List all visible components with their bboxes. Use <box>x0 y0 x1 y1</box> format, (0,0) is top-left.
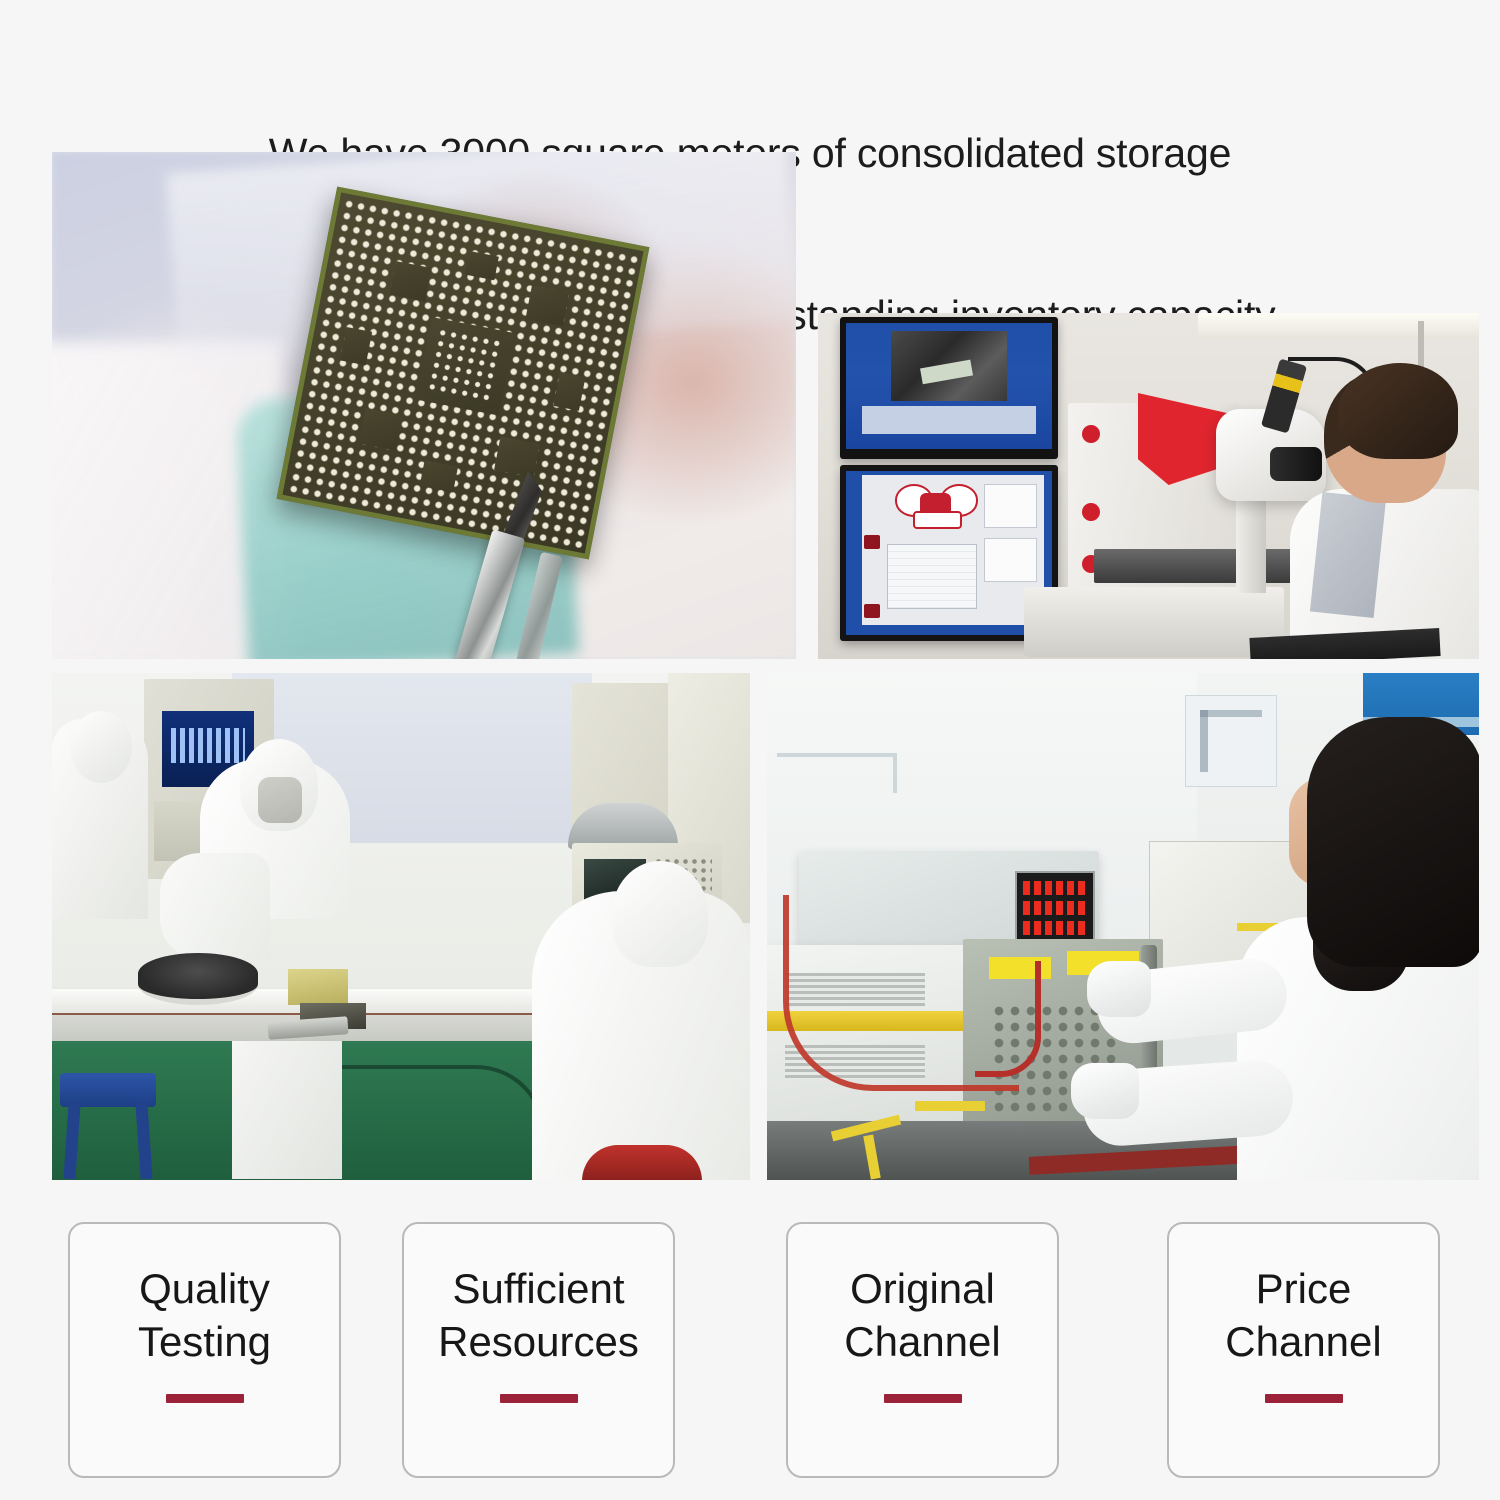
chip-void-tr <box>525 286 569 327</box>
feature-card-quality-testing[interactable]: Quality Testing <box>68 1222 341 1478</box>
cleanroom-photo-floor-cable <box>332 1065 546 1159</box>
inspection-graph-lower <box>984 538 1037 582</box>
image-microscope-inspection-station <box>818 313 1479 659</box>
cleanroom-photo-worker-center-face-mask <box>258 777 302 823</box>
bench-photo-technician-hair <box>1307 717 1479 967</box>
cleanroom-photo-blue-stool-seat <box>60 1073 156 1107</box>
microscope-photo-upper-monitor <box>840 317 1058 459</box>
chip-void-br <box>494 436 540 477</box>
bench-photo-technician-glove-lower <box>1071 1063 1139 1119</box>
inspection-graph-upper <box>984 484 1037 528</box>
inspection-results-table <box>887 544 976 609</box>
led-readout-row-1 <box>1023 881 1085 895</box>
feature-card-title: Sufficient Resources <box>438 1262 639 1368</box>
cleanroom-photo-wafer-carrier <box>138 953 258 1005</box>
microscope-photo-eyepiece <box>1270 447 1322 481</box>
led-readout-row-2 <box>1023 901 1085 915</box>
inspection-diagram <box>891 484 982 535</box>
cleanroom-photo-worker-foreground-hood <box>612 861 708 967</box>
bench-photo-wall-poster <box>1185 695 1277 787</box>
bench-photo-technician-glove-upper <box>1087 961 1151 1017</box>
led-readout-row-3 <box>1023 921 1085 935</box>
chip-photo-bga-package <box>277 187 650 560</box>
bench-photo-red-test-lead-secondary <box>975 961 1041 1077</box>
upper-monitor-screen <box>846 323 1052 449</box>
feature-card-accent-bar <box>1265 1394 1343 1403</box>
bench-photo-led-display <box>1015 871 1095 945</box>
feature-card-accent-bar <box>884 1394 962 1403</box>
bench-photo-wall-trim-vertical <box>893 753 897 793</box>
software-tool-button-1 <box>864 535 880 549</box>
microscope-photo-instrument-base <box>1024 587 1284 657</box>
inspection-software-window <box>862 475 1044 625</box>
feature-card-sufficient-resources[interactable]: Sufficient Resources <box>402 1222 675 1478</box>
image-bench-calibration-test <box>767 673 1479 1180</box>
feature-card-original-channel[interactable]: Original Channel <box>786 1222 1059 1478</box>
cleanroom-photo-component-tray <box>288 969 348 1005</box>
lower-monitor-screen <box>846 471 1052 635</box>
microscope-photo-operator-shirt <box>1310 492 1386 618</box>
microscope-photo-operator-hair <box>1338 363 1458 459</box>
cleanroom-photo-worker-background-hood <box>70 711 132 783</box>
cleanroom-photo-worker-center-arm <box>160 853 270 959</box>
diagram-plate <box>913 511 963 529</box>
feature-card-accent-bar <box>500 1394 578 1403</box>
feature-card-accent-bar <box>166 1394 244 1403</box>
feature-card-row: Quality Testing Sufficient Resources Ori… <box>68 1222 1440 1478</box>
feature-card-title: Original Channel <box>844 1262 1000 1368</box>
bench-photo-floor-marking-3 <box>915 1101 985 1111</box>
chip-void-bl <box>359 408 403 451</box>
machine-indicator-2 <box>1082 503 1100 521</box>
upper-monitor-sample-image <box>891 331 1006 402</box>
software-tool-button-2 <box>864 604 880 618</box>
feature-card-price-channel[interactable]: Price Channel <box>1167 1222 1440 1478</box>
feature-card-title: Price Channel <box>1225 1262 1381 1368</box>
machine-indicator-1 <box>1082 425 1100 443</box>
image-bga-chip-inspection <box>52 152 796 659</box>
feature-card-title: Quality Testing <box>138 1262 271 1368</box>
upper-monitor-toolbar <box>862 406 1035 434</box>
cleanroom-photo-red-stool <box>582 1145 702 1180</box>
chip-void-tl <box>390 261 432 301</box>
image-cleanroom-workbench <box>52 673 750 1180</box>
bench-photo-wall-trim-horizontal <box>777 753 897 757</box>
chip-inner-ball-cluster <box>425 326 505 406</box>
microscope-photo-ceiling-light <box>1198 313 1479 339</box>
